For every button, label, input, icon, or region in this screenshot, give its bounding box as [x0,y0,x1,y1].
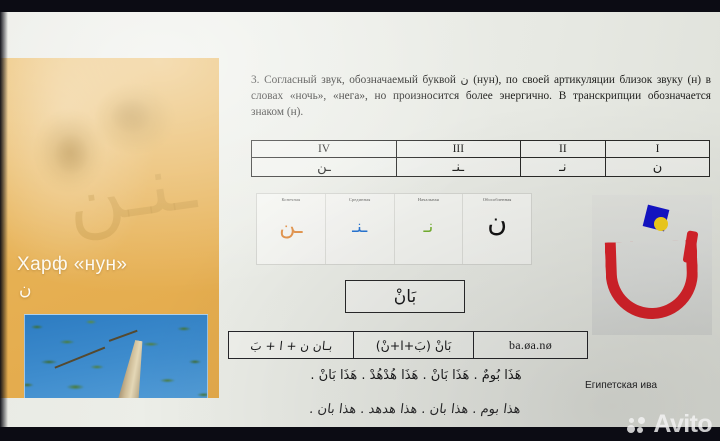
left-panel-title: Харф «нун» [17,254,127,276]
word-analysis-table: بـان ن + ا + بَ (بَ+ا+نْ) بَانْ ba.øa.nø [228,331,588,359]
position-glyph-medial: ـنـ [326,212,394,242]
screenshot-root: ـنـن Харф «нун» ن 3. Согласный звук, обо… [0,0,720,441]
willow-tree-photo [24,314,208,398]
left-title-panel: ـنـن Харф «нун» ن [0,58,219,398]
position-glyph-initial: نـ [395,212,463,242]
analysis-formula-cell: (بَ+ا+نْ) بَانْ [354,332,474,359]
foliage-bottom [25,385,207,398]
forms-header-iv: IV [252,141,397,158]
position-cell-isolated: Обособленная ن [463,194,531,264]
avito-watermark: Avito [627,412,712,437]
forms-header-i: I [606,141,710,158]
forms-glyph-i: ن [606,158,710,177]
position-label-final: Конечная [257,197,325,202]
position-glyph-final: ـن [257,212,325,242]
analysis-transliteration-cell: ba.øa.nø [474,332,588,359]
printed-arabic-sentence: هَذَا بُومٌ . هَذَا بَانْ . هَذَا هُدْهُ… [240,368,592,383]
table-row-headers: IV III II I [252,141,710,158]
handwritten-arabic-sentence: هذا بوم . هذا بان . هذا هدهد . هذا بان . [249,402,581,417]
position-glyph-isolated: ن [463,208,531,238]
yellow-circle-icon [654,217,668,231]
letter-position-box: Конечная ـن Срединная ـنـ Начальная نـ О… [256,193,532,265]
table-row-glyphs: ـن ـنـ نـ ن [252,158,710,177]
table-row: بـان ن + ا + بَ (بَ+ا+نْ) بَانْ ba.øa.nø [229,332,588,359]
paragraph-inline-letter: ن [461,73,469,86]
position-label-isolated: Обособленная [463,197,531,202]
avito-wordmark: Avito [653,412,712,437]
forms-glyph-iv: ـن [252,158,397,177]
decorative-letter-panel [592,195,712,335]
analysis-handwritten-cell: بـان ن + ا + بَ [227,332,355,359]
forms-header-ii: II [520,141,605,158]
left-panel-letter: ن [19,280,31,300]
paragraph-prefix: 3. Согласный звук, обозначаемый буквой [251,74,456,86]
position-cell-initial: Начальная نـ [395,194,464,264]
example-word: بَانْ [394,287,416,307]
avito-logo-icon [627,415,649,435]
forms-header-iii: III [397,141,521,158]
forms-glyph-ii: نـ [520,158,605,177]
example-word-box: بَانْ [345,280,465,313]
letter-forms-table: IV III II I ـن ـنـ نـ ن [251,140,710,177]
photographed-textbook-page: ـنـن Харф «нун» ن 3. Согласный звук, обо… [0,12,720,427]
forms-glyph-iii: ـنـ [397,158,521,177]
position-cell-medial: Срединная ـنـ [326,194,395,264]
position-cell-final: Конечная ـن [257,194,326,264]
photo-left-shadow [0,12,8,427]
right-panel-caption: Египетская ива [585,380,657,391]
position-label-medial: Срединная [326,197,394,202]
position-label-initial: Начальная [395,197,463,202]
lesson-paragraph: 3. Согласный звук, обозначаемый буквой ن… [251,72,711,121]
